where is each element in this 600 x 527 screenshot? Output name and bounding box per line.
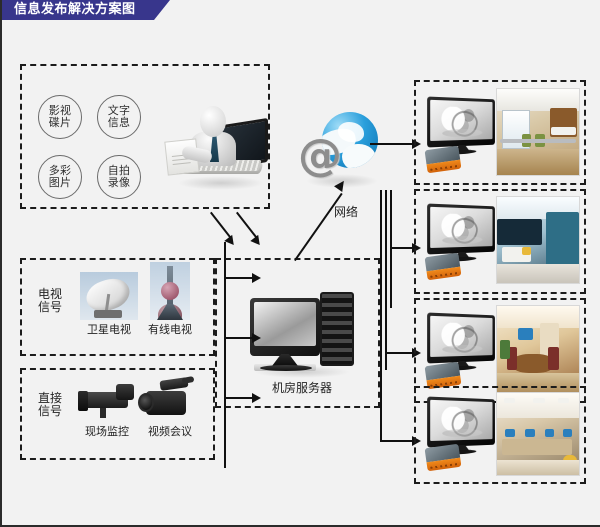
banner-underline [2, 20, 600, 22]
flat-tv-icon-1 [427, 97, 495, 148]
satellite-tv-caption: 卫星电视 [74, 323, 144, 336]
scene-photo-1 [496, 88, 580, 176]
bus-to-server-line-2 [226, 337, 254, 339]
scene-photo-4 [496, 392, 580, 476]
distribution-line-c [390, 190, 392, 308]
tv-signal-label: 电视 信号 [30, 288, 70, 314]
flat-tv-icon-2 [427, 204, 495, 255]
satellite-dish-icon [80, 272, 138, 320]
bus-to-server-line-3 [226, 397, 254, 399]
distribution-line-b [385, 190, 387, 370]
circle-line-2: 信息 [108, 117, 131, 129]
set-top-box-icon-4 [425, 444, 462, 472]
set-top-box-icon-1 [425, 146, 462, 174]
globe-network-icon: @ [298, 108, 384, 188]
cable-tv-caption: 有线电视 [135, 323, 205, 336]
source-bus-line [224, 242, 226, 468]
circle-text-info: 文字 信息 [97, 95, 141, 139]
branch-to-endpoint-2-line [390, 247, 414, 249]
branch-to-endpoint-3-line [385, 352, 414, 354]
circle-line-2: 碟片 [49, 117, 72, 129]
media-to-server-arrow-1 [210, 213, 236, 243]
server-label: 机房服务器 [252, 382, 352, 395]
circle-video-disc: 影视 碟片 [38, 95, 82, 139]
set-top-box-icon-2 [425, 253, 462, 281]
video-conference-caption: 视频会议 [135, 425, 205, 438]
camcorder-icon [138, 375, 200, 423]
media-to-server-arrow-2 [236, 213, 262, 243]
site-surveillance-caption: 现场监控 [72, 425, 142, 438]
flat-tv-icon-4 [427, 397, 495, 448]
branch-to-endpoint-4-line [380, 440, 414, 442]
circle-selfie-video: 自拍 录像 [97, 155, 141, 199]
tv-tower-icon [150, 262, 190, 320]
circle-color-photo: 多彩 图片 [38, 155, 82, 199]
page-title: 信息发布解决方案图 [2, 0, 154, 20]
circle-line-2: 图片 [49, 177, 72, 189]
diagram-canvas: 信息发布解决方案图 影视 碟片 文字 信息 多彩 图片 自拍 录像 电视 信号 … [0, 0, 600, 527]
circle-line-2: 录像 [108, 177, 131, 189]
flat-tv-icon-3 [427, 313, 495, 364]
scene-photo-2 [496, 196, 580, 284]
banner-tail-shape [154, 0, 170, 20]
scene-photo-3 [496, 305, 580, 393]
cctv-camera-icon [78, 378, 136, 422]
distribution-line-a [380, 190, 382, 442]
bus-to-server-line-1 [226, 277, 254, 279]
bus-to-server-arrow-3 [252, 393, 261, 403]
server-icon [250, 288, 354, 374]
bus-to-server-arrow-2 [252, 333, 261, 343]
network-to-endpoint-1-line [370, 143, 414, 145]
person-with-laptop-icon [170, 104, 270, 190]
direct-signal-label: 直接 信号 [30, 392, 70, 418]
server-to-network-arrow [294, 184, 348, 260]
bus-to-server-arrow-1 [252, 273, 261, 283]
